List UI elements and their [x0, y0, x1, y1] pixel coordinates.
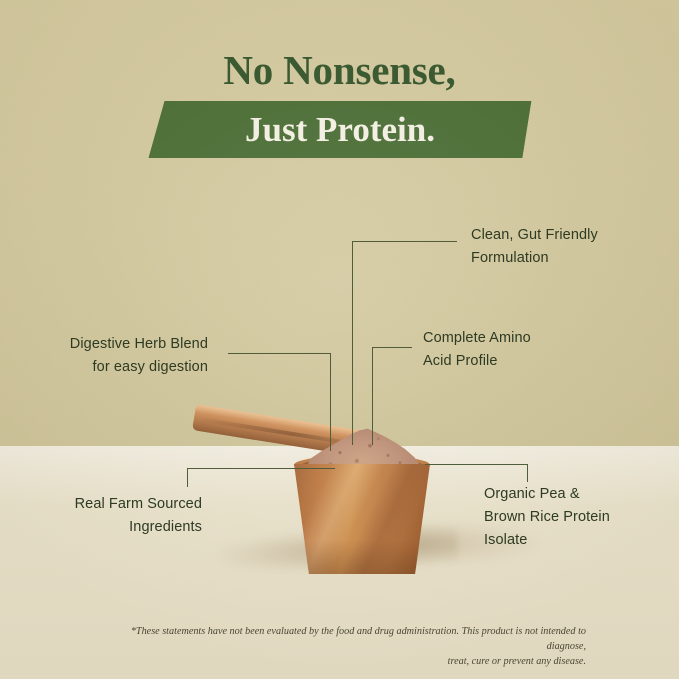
leader-line-organic-vertical	[527, 464, 528, 482]
disclaimer: *These statements have not been evaluate…	[96, 624, 586, 669]
callout-real-farm-sourced-ingredients: Real Farm Sourced Ingredients	[12, 493, 202, 539]
leader-line-farm-vertical	[187, 468, 188, 487]
callout-complete-amino-acid-profile: Complete Amino Acid Profile	[423, 327, 613, 373]
callout-clean-gut-friendly-formulation: Clean, Gut Friendly Formulation	[471, 224, 661, 270]
callout-digestive-herb-blend: Digestive Herb Blend for easy digestion	[18, 333, 208, 379]
callout-amino-line-2: Acid Profile	[423, 350, 613, 373]
callout-organic-line-1: Organic Pea &	[484, 483, 674, 506]
leader-line-clean-gut-vertical	[352, 241, 353, 445]
leader-line-clean-gut-horizontal	[352, 241, 457, 242]
callout-organic-line-3: Isolate	[484, 529, 674, 552]
product-infographic: No Nonsense, Just Protein. Clean, Gut Fr…	[0, 0, 679, 679]
callout-amino-line-1: Complete Amino	[423, 327, 613, 350]
leader-line-organic-horizontal	[425, 464, 527, 465]
leader-line-herb-horizontal	[228, 353, 331, 354]
callout-herb-line-1: Digestive Herb Blend	[18, 333, 208, 356]
leader-line-amino-horizontal	[372, 347, 412, 348]
callout-organic-pea-brown-rice-protein-isolate: Organic Pea & Brown Rice Protein Isolate	[484, 483, 674, 552]
callout-clean-gut-line-2: Formulation	[471, 247, 661, 270]
callout-herb-line-2: for easy digestion	[18, 356, 208, 379]
leader-line-farm-horizontal	[187, 468, 335, 469]
leader-line-herb-vertical	[330, 353, 331, 451]
callout-farm-line-2: Ingredients	[12, 516, 202, 539]
callout-clean-gut-line-1: Clean, Gut Friendly	[471, 224, 661, 247]
scoop-cup-shading	[294, 540, 430, 574]
disclaimer-line-1: *These statements have not been evaluate…	[96, 624, 586, 654]
headline-line-2: Just Protein.	[153, 101, 527, 158]
callout-farm-line-1: Real Farm Sourced	[12, 493, 202, 516]
disclaimer-line-2: treat, cure or prevent any disease.	[96, 654, 586, 669]
leader-line-amino-vertical	[372, 347, 373, 445]
callout-organic-line-2: Brown Rice Protein	[484, 506, 674, 529]
headline-line-1: No Nonsense,	[0, 46, 679, 94]
